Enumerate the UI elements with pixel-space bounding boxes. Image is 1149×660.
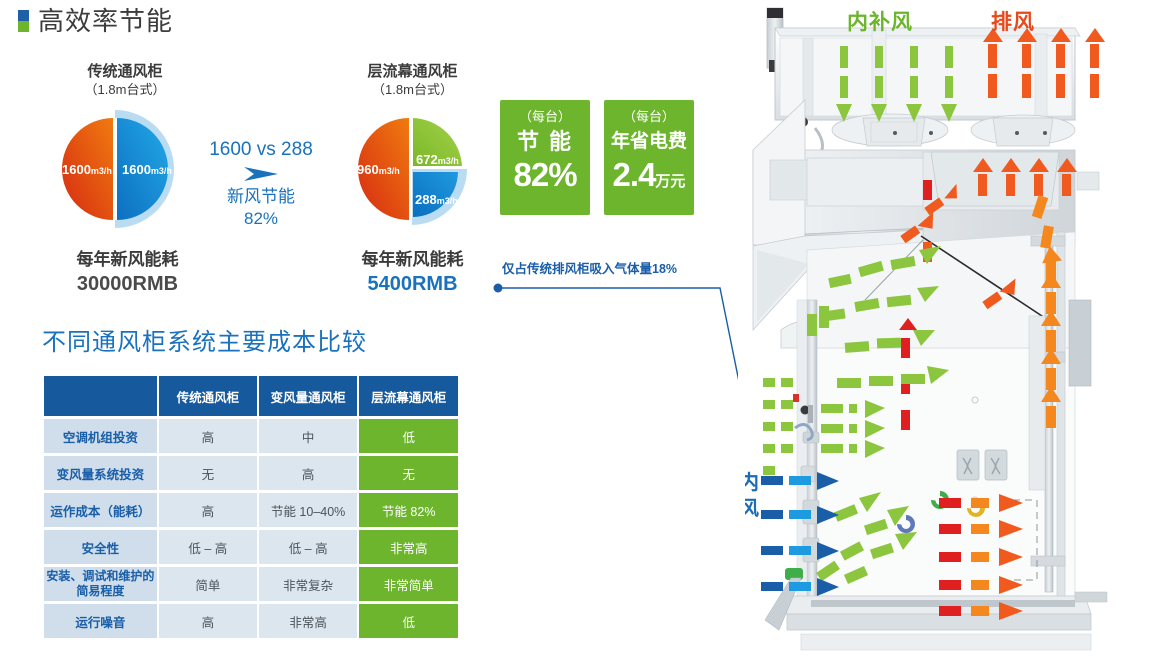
vs-text: 1600 vs 288	[196, 138, 326, 162]
cost-comparison-table: 传统通风柜 变风量通风柜 层流幕通风柜 空调机组投资高中低变风量系统投资无高无运…	[42, 373, 460, 641]
table-header-cell-0	[44, 376, 157, 416]
table-cell: 低 – 高	[159, 530, 257, 564]
left-pie-chart: 1600m3/h 1600m3/h	[54, 108, 206, 226]
table-row: 安全性低 – 高低 – 高非常高	[44, 530, 458, 564]
right-pie-title-main: 层流幕通风柜	[320, 62, 505, 81]
table-row-label: 空调机组投资	[44, 419, 157, 453]
table-cell: 节能 82%	[359, 493, 458, 527]
table-cell: 高	[159, 604, 257, 638]
table-cell: 无	[159, 456, 257, 490]
left-pie-slice-label-0: 1600m3/h	[62, 162, 112, 177]
left-pie-title: 传统通风柜 （1.8m台式）	[35, 62, 215, 99]
callout-text: 仅占传统排风柜吸入气体量18%	[502, 258, 677, 277]
table-title: 不同通风柜系统主要成本比较	[42, 322, 367, 357]
right-pie-footer: 每年新风能耗 5400RMB	[320, 248, 505, 297]
fume-hood-drawing	[745, 0, 1149, 660]
table-row-label: 变风量系统投资	[44, 456, 157, 490]
right-pie-footer-label: 每年新风能耗	[320, 248, 505, 271]
table-cell: 无	[359, 456, 458, 490]
left-pie-footer-value: 30000RMB	[35, 271, 220, 297]
left-pie-title-sub: （1.8m台式）	[35, 81, 215, 99]
comparison-summary: 1600 vs 288 新风节能 82%	[196, 138, 326, 230]
table-cell: 高	[259, 456, 358, 490]
table-header-cell-1: 传统通风柜	[159, 376, 257, 416]
table-cell: 中	[259, 419, 358, 453]
badge-cost-saving-value: 2.4万元	[613, 156, 686, 200]
right-pie-slice-label-0: 960m3/h	[357, 162, 400, 177]
benefit-label: 新风节能	[196, 185, 326, 208]
left-pie-slice-label-1: 1600m3/h	[122, 162, 172, 177]
badge-energy-saving-value: 82%	[513, 156, 576, 193]
left-pie-footer: 每年新风能耗 30000RMB	[35, 248, 220, 297]
badge-cost-saving-top: （每台）	[623, 106, 675, 128]
table-cell: 节能 10–40%	[259, 493, 358, 527]
badge-energy-saving-top: （每台）	[519, 106, 571, 128]
badge-energy-saving-middle: 节 能	[517, 128, 573, 156]
table-row: 安装、调试和维护的简易程度简单非常复杂非常简单	[44, 567, 458, 601]
table-cell: 非常简单	[359, 567, 458, 601]
table-body: 空调机组投资高中低变风量系统投资无高无运作成本（能耗）高节能 10–40%节能 …	[44, 419, 458, 638]
benefit-value: 82%	[196, 208, 326, 230]
right-pie-title-sub: （1.8m台式）	[320, 81, 505, 99]
supply-air-label: 内补风	[847, 6, 913, 36]
table-header-cell-2: 变风量通风柜	[259, 376, 358, 416]
table-row-label: 安装、调试和维护的简易程度	[44, 567, 157, 601]
right-pie-chart: 960m3/h 672m3/h 288m3/h	[352, 110, 464, 222]
callout-leader-line	[488, 276, 738, 456]
savings-badges: （每台） 节 能 82% （每台） 年省电费 2.4万元	[500, 100, 694, 215]
right-pie-title: 层流幕通风柜 （1.8m台式）	[320, 62, 505, 99]
right-pie-slice-label-1: 672m3/h	[416, 152, 459, 167]
table-row: 运行噪音高非常高低	[44, 604, 458, 638]
table-cell: 低	[359, 604, 458, 638]
infographic-page: 高效率节能 传统通风柜 （1.8m台式） 层流幕通风柜 （1.8m台式）	[0, 0, 1149, 660]
table-row: 运作成本（能耗）高节能 10–40%节能 82%	[44, 493, 458, 527]
table-cell: 非常高	[259, 604, 358, 638]
room-air-label-1: 室内	[745, 470, 760, 496]
exhaust-air-label: 排风	[991, 6, 1035, 36]
table-cell: 非常复杂	[259, 567, 358, 601]
table-cell: 低	[359, 419, 458, 453]
left-pie-title-main: 传统通风柜	[35, 62, 215, 81]
table-row: 空调机组投资高中低	[44, 419, 458, 453]
room-air-label-2: 新风	[745, 496, 760, 522]
table-row: 变风量系统投资无高无	[44, 456, 458, 490]
table-cell: 非常高	[359, 530, 458, 564]
table-header-cell-3: 层流幕通风柜	[359, 376, 458, 416]
right-pie-footer-value: 5400RMB	[320, 271, 505, 297]
table-cell: 简单	[159, 567, 257, 601]
table-row-label: 运行噪音	[44, 604, 157, 638]
left-pie-footer-label: 每年新风能耗	[35, 248, 220, 271]
badge-cost-saving-middle: 年省电费	[611, 128, 687, 156]
badge-cost-saving: （每台） 年省电费 2.4万元	[604, 100, 694, 215]
right-pie-slice-label-2: 288m3/h	[415, 192, 458, 207]
right-arrow-icon	[238, 165, 284, 183]
table-cell: 高	[159, 493, 257, 527]
table-row-label: 安全性	[44, 530, 157, 564]
table-cell: 低 – 高	[259, 530, 358, 564]
fume-hood-illustration: 内补风 排风 室内 新风	[745, 0, 1149, 660]
table-header-row: 传统通风柜 变风量通风柜 层流幕通风柜	[44, 376, 458, 416]
table-row-label: 运作成本（能耗）	[44, 493, 157, 527]
badge-energy-saving: （每台） 节 能 82%	[500, 100, 590, 215]
table-cell: 高	[159, 419, 257, 453]
